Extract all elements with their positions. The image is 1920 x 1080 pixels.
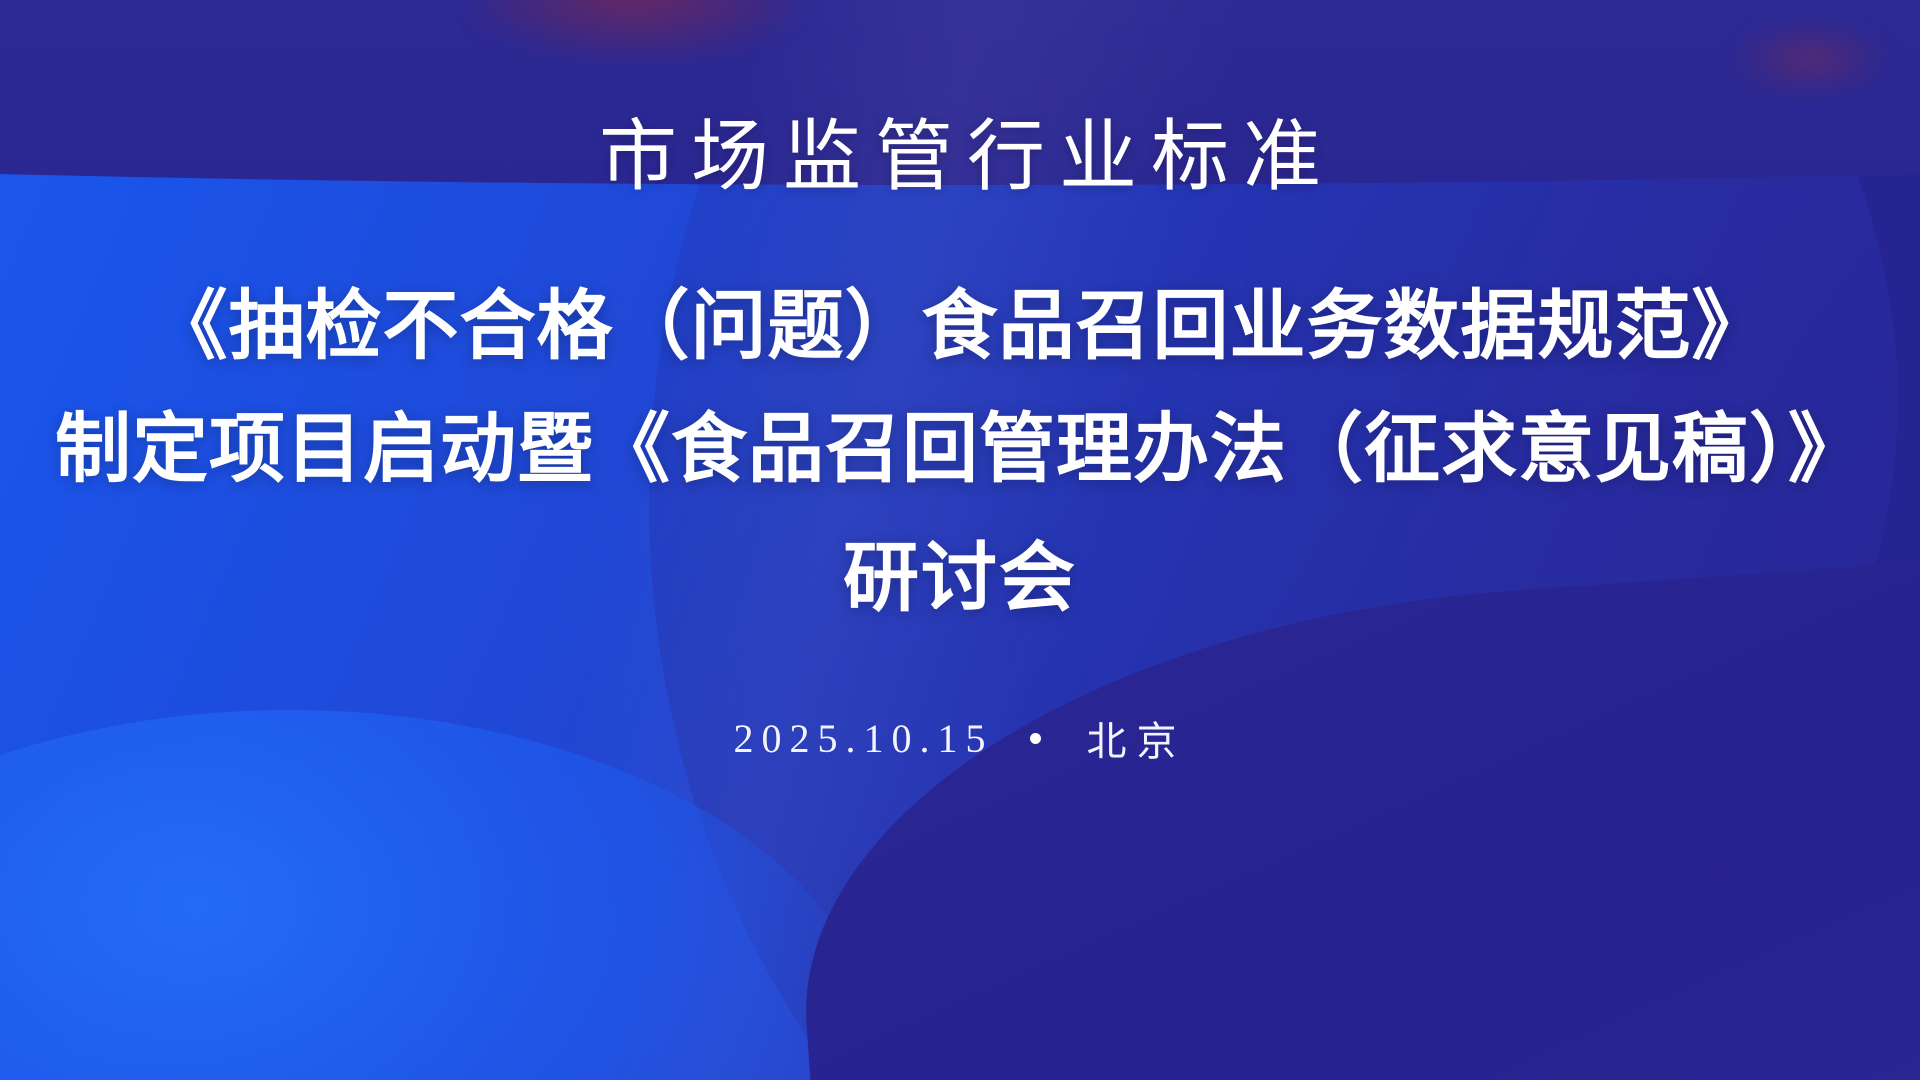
- slide-content: 市场监管行业标准 《抽检不合格（问题）食品召回业务数据规范》 制定项目启动暨《食…: [0, 0, 1920, 1080]
- dot-separator-icon: [1030, 733, 1041, 744]
- slide-title-block: 《抽检不合格（问题）食品召回业务数据规范》 制定项目启动暨《食品召回管理办法（征…: [0, 264, 1920, 639]
- presentation-title-slide: 市场监管行业标准 《抽检不合格（问题）食品召回业务数据规范》 制定项目启动暨《食…: [0, 0, 1920, 1080]
- title-line-2: 制定项目启动暨《食品召回管理办法（征求意见稿）》: [55, 387, 1865, 510]
- event-date: 2025.10.15: [734, 715, 994, 762]
- slide-headline: 市场监管行业标准: [585, 118, 1335, 196]
- title-line-1: 《抽检不合格（问题）食品召回业务数据规范》: [152, 264, 1769, 387]
- slide-meta: 2025.10.15 北京: [734, 709, 1187, 767]
- title-line-3: 研讨会: [843, 516, 1077, 639]
- event-location: 北京: [1077, 709, 1187, 767]
